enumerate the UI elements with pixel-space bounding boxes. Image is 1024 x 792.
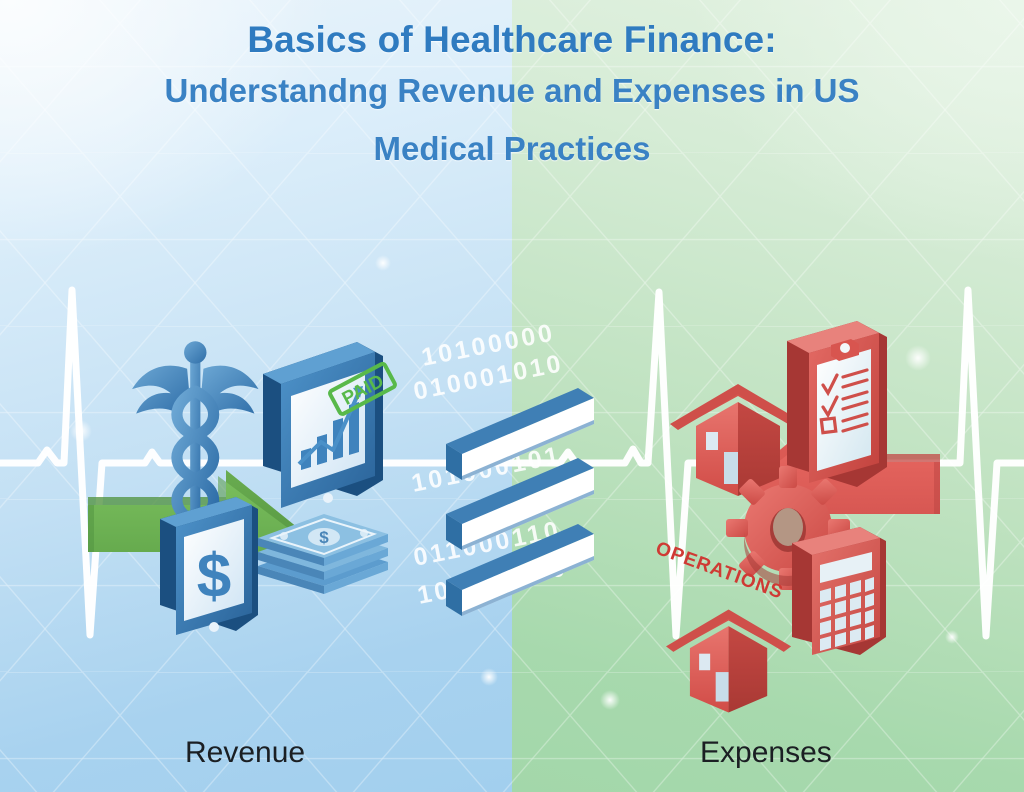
title-line-2: Understandng Revenue and Expenses in US (0, 62, 1024, 120)
expenses-label: Expenses (700, 736, 832, 770)
clipboard-checklist-icon (775, 315, 905, 515)
data-ledger-group: 10100000 010001010 101000101 011000110 1… (412, 330, 622, 630)
calculator-icon (778, 525, 903, 675)
svg-text:$: $ (319, 528, 329, 547)
title-line-3: Medical Practices (0, 120, 1024, 178)
page-title: Basics of Healthcare Finance: Understand… (0, 18, 1024, 178)
infographic-canvas: Basics of Healthcare Finance: Understand… (0, 0, 1024, 792)
cash-stack-icon: $ (248, 500, 398, 610)
ledger-bars-icon (430, 366, 610, 626)
dollar-sign-icon: $ (197, 542, 231, 611)
revenue-label: Revenue (185, 736, 305, 770)
title-line-1: Basics of Healthcare Finance: (0, 18, 1024, 62)
